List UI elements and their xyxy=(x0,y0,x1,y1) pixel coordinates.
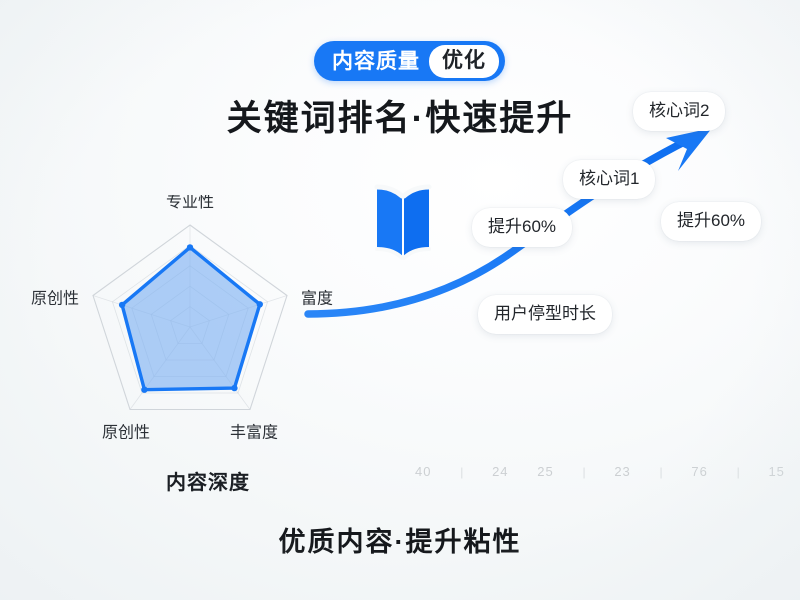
radar-axis-label: 专业性 xyxy=(166,195,214,211)
radar-caption: 内容深度 xyxy=(166,466,250,495)
open-book-icon xyxy=(372,182,434,266)
axis-tick-mark: | xyxy=(737,465,740,479)
radar-axis-label: 原创性 xyxy=(102,424,150,442)
axis-tick-mark: | xyxy=(582,465,585,479)
bottom-headline: 优质内容·提升粘性 xyxy=(0,520,800,559)
pill-uplift-left[interactable]: 提升60% xyxy=(472,208,572,247)
quality-badge[interactable]: 内容质量 优化 xyxy=(314,41,505,81)
pill-dwell-time[interactable]: 用户停型时长 xyxy=(478,295,612,334)
radar-axis-label: 丰富度 xyxy=(230,424,278,442)
poster-canvas: 内容质量 优化 关键词排名·快速提升 专业性富度丰富度原创性原创性 内容深度 xyxy=(0,0,800,600)
axis-tick-row: 40|2425|23|76|15 xyxy=(415,464,785,479)
axis-tick-mark: | xyxy=(660,465,663,479)
axis-tick-value: 76 xyxy=(691,464,707,479)
axis-tick-value: 15 xyxy=(768,464,784,479)
axis-tick-value: 24 xyxy=(492,464,508,479)
radar-axis-label: 原创性 xyxy=(31,290,79,308)
axis-tick-value: 23 xyxy=(614,464,630,479)
pill-core-keyword-2[interactable]: 核心词2 xyxy=(633,92,725,131)
pill-uplift-right[interactable]: 提升60% xyxy=(661,202,761,241)
radar-series-area xyxy=(122,247,260,389)
pill-core-keyword-1[interactable]: 核心词1 xyxy=(563,160,655,199)
badge-chip-label: 优化 xyxy=(429,45,499,78)
badge-main-label: 内容质量 xyxy=(332,51,429,72)
axis-tick-mark: | xyxy=(460,465,463,479)
axis-tick-value: 40 xyxy=(415,464,431,479)
axis-tick-value: 25 xyxy=(537,464,553,479)
